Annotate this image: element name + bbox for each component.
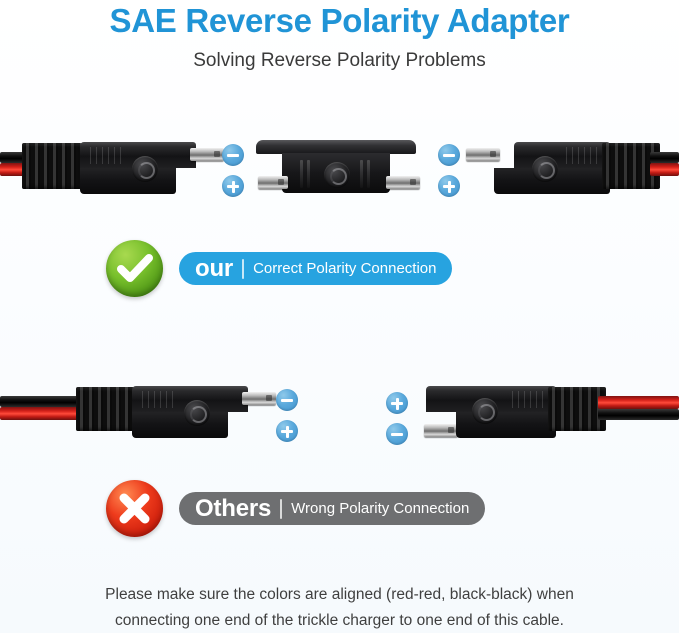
- plus-glyph-v: [286, 426, 289, 438]
- brand-logo-icon: [472, 398, 498, 424]
- connector-lower-body: [456, 412, 556, 438]
- verdict-pill-wrong: Others Wrong Polarity Connection: [179, 492, 485, 525]
- footer-line-1: Please make sure the colors are aligned …: [40, 582, 639, 608]
- minus-badge-right-bottom: [386, 423, 408, 445]
- verdict-brand-label: our: [195, 257, 233, 281]
- minus-glyph: [391, 433, 403, 436]
- minus-glyph: [281, 399, 293, 402]
- plus-badge-left-bottom: [276, 420, 298, 442]
- verdict-brand-label: Others: [195, 497, 271, 521]
- verdict-description: Wrong Polarity Connection: [291, 501, 469, 516]
- cable-wire-right-bottom: [598, 396, 679, 420]
- infographic-canvas: SAE Reverse Polarity Adapter Solving Rev…: [0, 0, 679, 633]
- pill-divider: [242, 259, 244, 279]
- plus-badge-right-bottom: [386, 392, 408, 414]
- red-wire: [598, 396, 679, 409]
- metal-terminal-left-bottom: [242, 392, 276, 405]
- plus-glyph-v: [232, 181, 235, 193]
- cable-wire-left-bottom: [0, 396, 80, 420]
- plus-glyph-v: [448, 181, 451, 193]
- strain-relief-boot-left-bottom: [76, 387, 134, 431]
- black-wire: [0, 396, 80, 407]
- plus-glyph-v: [396, 398, 399, 410]
- wrong-polarity-diagram: [0, 0, 679, 180]
- cross-circle-icon: [106, 480, 163, 537]
- check-circle-icon: [106, 240, 163, 297]
- sae-connector-right-bottom: [426, 386, 556, 438]
- red-wire: [0, 407, 80, 420]
- footer-line-2: connecting one end of the trickle charge…: [40, 608, 639, 634]
- minus-badge-left-bottom: [276, 389, 298, 411]
- connector-ribs: [512, 391, 544, 408]
- verdict-pill-correct: our Correct Polarity Connection: [179, 252, 452, 285]
- sae-connector-left-bottom: [132, 386, 248, 438]
- brand-logo-icon: [184, 400, 210, 426]
- footer-note: Please make sure the colors are aligned …: [40, 582, 639, 634]
- connector-ribs: [142, 391, 174, 408]
- black-wire: [598, 409, 679, 420]
- connector-lower-body: [132, 412, 228, 438]
- pill-divider: [280, 499, 282, 519]
- verdict-description: Correct Polarity Connection: [253, 261, 436, 276]
